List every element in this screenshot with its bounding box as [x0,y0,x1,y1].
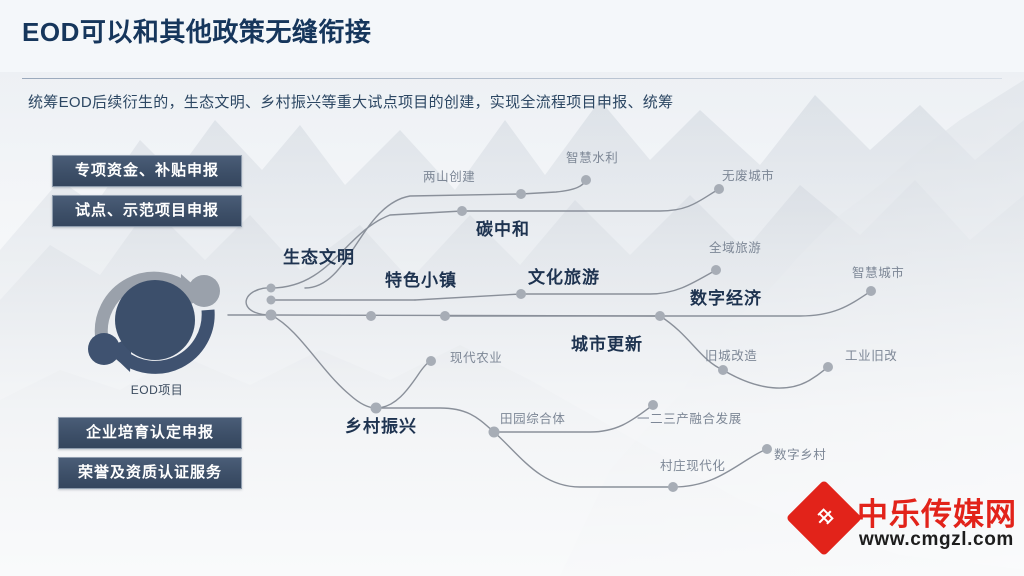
node-digital-village [762,444,772,454]
link-smart-water [521,180,586,194]
leaf-label-smart-city: 智慧城市 [852,262,904,281]
branch-label-rural-revitalization: 乡村振兴 [345,412,417,437]
node-digital-economy-a [366,311,376,321]
leaf-label-two-mountains: 两山创建 [423,166,475,185]
branch-label-culture-tourism: 文化旅游 [528,263,600,288]
link-modern-agri [376,361,431,408]
node-two-mountains [516,189,526,199]
node-eco [267,296,276,305]
leaf-label-three-industry-integration: 一二三产融合发展 [637,408,742,427]
node-digital-economy-b [655,311,665,321]
node-special-town [267,284,276,293]
node-smart-water [581,175,591,185]
leaf-label-village-modernization: 村庄现代化 [660,455,726,474]
node-split [266,310,277,321]
link-digital-economy [271,291,871,316]
branch-label-special-town: 特色小镇 [385,266,457,291]
node-industrial-renovation [823,362,833,372]
node-culture-tourism [516,289,526,299]
branch-label-carbon-neutral: 碳中和 [476,215,530,240]
watermark-brand: 中乐传媒网 [857,489,1017,534]
slide-canvas: EOD可以和其他政策无缝衔接 统筹EOD后续衍生的，生态文明、乡村振兴等重大试点… [0,0,1024,576]
leaf-label-old-city-renovation: 旧城改造 [705,345,757,364]
node-smart-city [866,286,876,296]
node-no-waste-city [714,184,724,194]
watermark: 中 中乐传媒网 www.cmgzl.com [795,487,1020,559]
seal-glyph: 中 [786,480,862,556]
leaf-label-modern-agriculture: 现代农业 [450,347,502,366]
leaf-label-digital-village: 数字乡村 [774,444,826,463]
link-rural-trunk [271,315,376,408]
leaf-label-industrial-renovation: 工业旧改 [845,345,897,364]
node-global-tourism [711,265,721,275]
node-carbon [457,206,467,216]
node-garden-complex [489,427,500,438]
node-urban-renewal [440,311,450,321]
leaf-label-global-tourism: 全域旅游 [709,237,761,256]
link-carbon-neutral [462,189,719,211]
node-old-city-renovation [718,365,728,375]
node-village-modernization [668,482,678,492]
branch-label-digital-economy: 数字经济 [690,284,762,309]
branch-label-urban-renewal: 城市更新 [571,330,643,355]
watermark-url: www.cmgzl.com [859,529,1014,551]
leaf-label-no-waste-city: 无废城市 [722,165,774,184]
link-village-modern [494,432,673,487]
leaf-label-smart-water: 智慧水利 [566,147,618,166]
branch-label-ecological-civilization: 生态文明 [283,243,355,268]
node-modern-agriculture [426,356,436,366]
leaf-label-garden-complex: 田园综合体 [500,408,566,427]
